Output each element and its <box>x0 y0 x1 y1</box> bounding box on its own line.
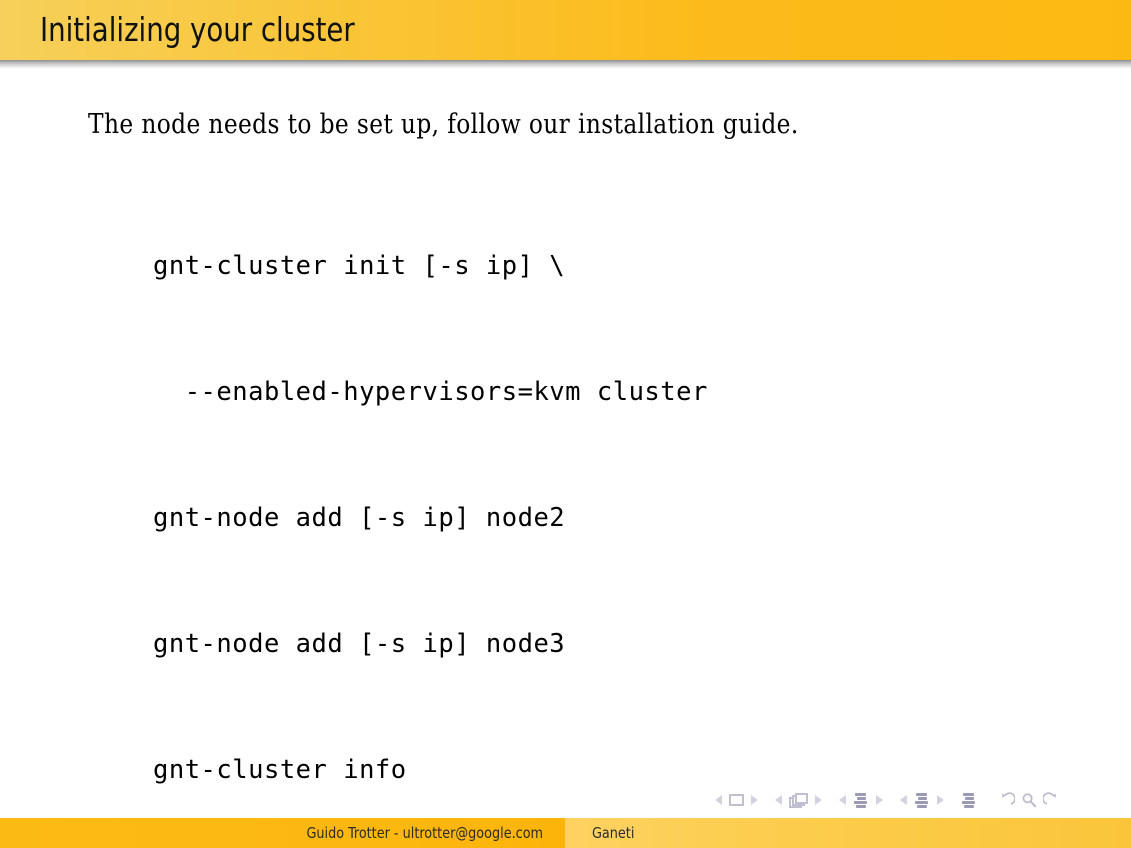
footer-author-section: Guido Trotter - ultrotter@google.com <box>0 818 565 848</box>
intro-paragraph: The node needs to be set up, follow our … <box>88 109 799 140</box>
forward-icon[interactable] <box>1043 792 1059 808</box>
code-line: gnt-node add [-s ip] node3 <box>153 623 866 665</box>
header-shadow-divider <box>0 60 1131 69</box>
history-navigation-group[interactable] <box>999 792 1059 808</box>
slide-icon[interactable] <box>729 794 744 806</box>
previous-frame-icon[interactable] <box>775 795 782 805</box>
next-slide-icon[interactable] <box>751 795 758 805</box>
footer-author-label: Guido Trotter - ultrotter@google.com <box>306 824 543 842</box>
subsection-navigation-group[interactable] <box>839 792 883 808</box>
section-navigation-group[interactable] <box>900 792 944 808</box>
next-frame-icon[interactable] <box>815 795 822 805</box>
navigation-symbols[interactable] <box>715 788 1111 812</box>
presentation-slide: Initializing your cluster The node needs… <box>0 0 1131 848</box>
next-section-icon[interactable] <box>937 795 944 805</box>
previous-section-icon[interactable] <box>900 795 907 805</box>
footer-title-section: Ganeti <box>565 818 1131 848</box>
back-icon[interactable] <box>999 792 1015 808</box>
previous-subsection-icon[interactable] <box>839 795 846 805</box>
slide-footer: Guido Trotter - ultrotter@google.com Gan… <box>0 818 1131 848</box>
previous-slide-icon[interactable] <box>715 795 722 805</box>
slide-content: The node needs to be set up, follow our … <box>0 69 1131 779</box>
subsection-icon[interactable] <box>853 792 869 808</box>
frame-title-bar: Initializing your cluster <box>0 0 1131 60</box>
code-line: gnt-cluster init [-s ip] \ <box>153 245 866 287</box>
footer-title-label: Ganeti <box>592 824 634 842</box>
frame-icon[interactable] <box>789 793 808 808</box>
frame-navigation-group[interactable] <box>775 793 822 808</box>
document-icon[interactable] <box>961 792 977 808</box>
code-line: gnt-cluster info <box>153 749 866 791</box>
code-block: gnt-cluster init [-s ip] \ --enabled-hyp… <box>153 161 866 848</box>
section-icon[interactable] <box>914 792 930 808</box>
code-line: --enabled-hypervisors=kvm cluster <box>153 371 866 413</box>
search-icon[interactable] <box>1021 792 1037 808</box>
next-subsection-icon[interactable] <box>876 795 883 805</box>
page-title: Initializing your cluster <box>40 10 355 49</box>
slide-navigation-group[interactable] <box>715 794 758 806</box>
code-line: gnt-node add [-s ip] node2 <box>153 497 866 539</box>
